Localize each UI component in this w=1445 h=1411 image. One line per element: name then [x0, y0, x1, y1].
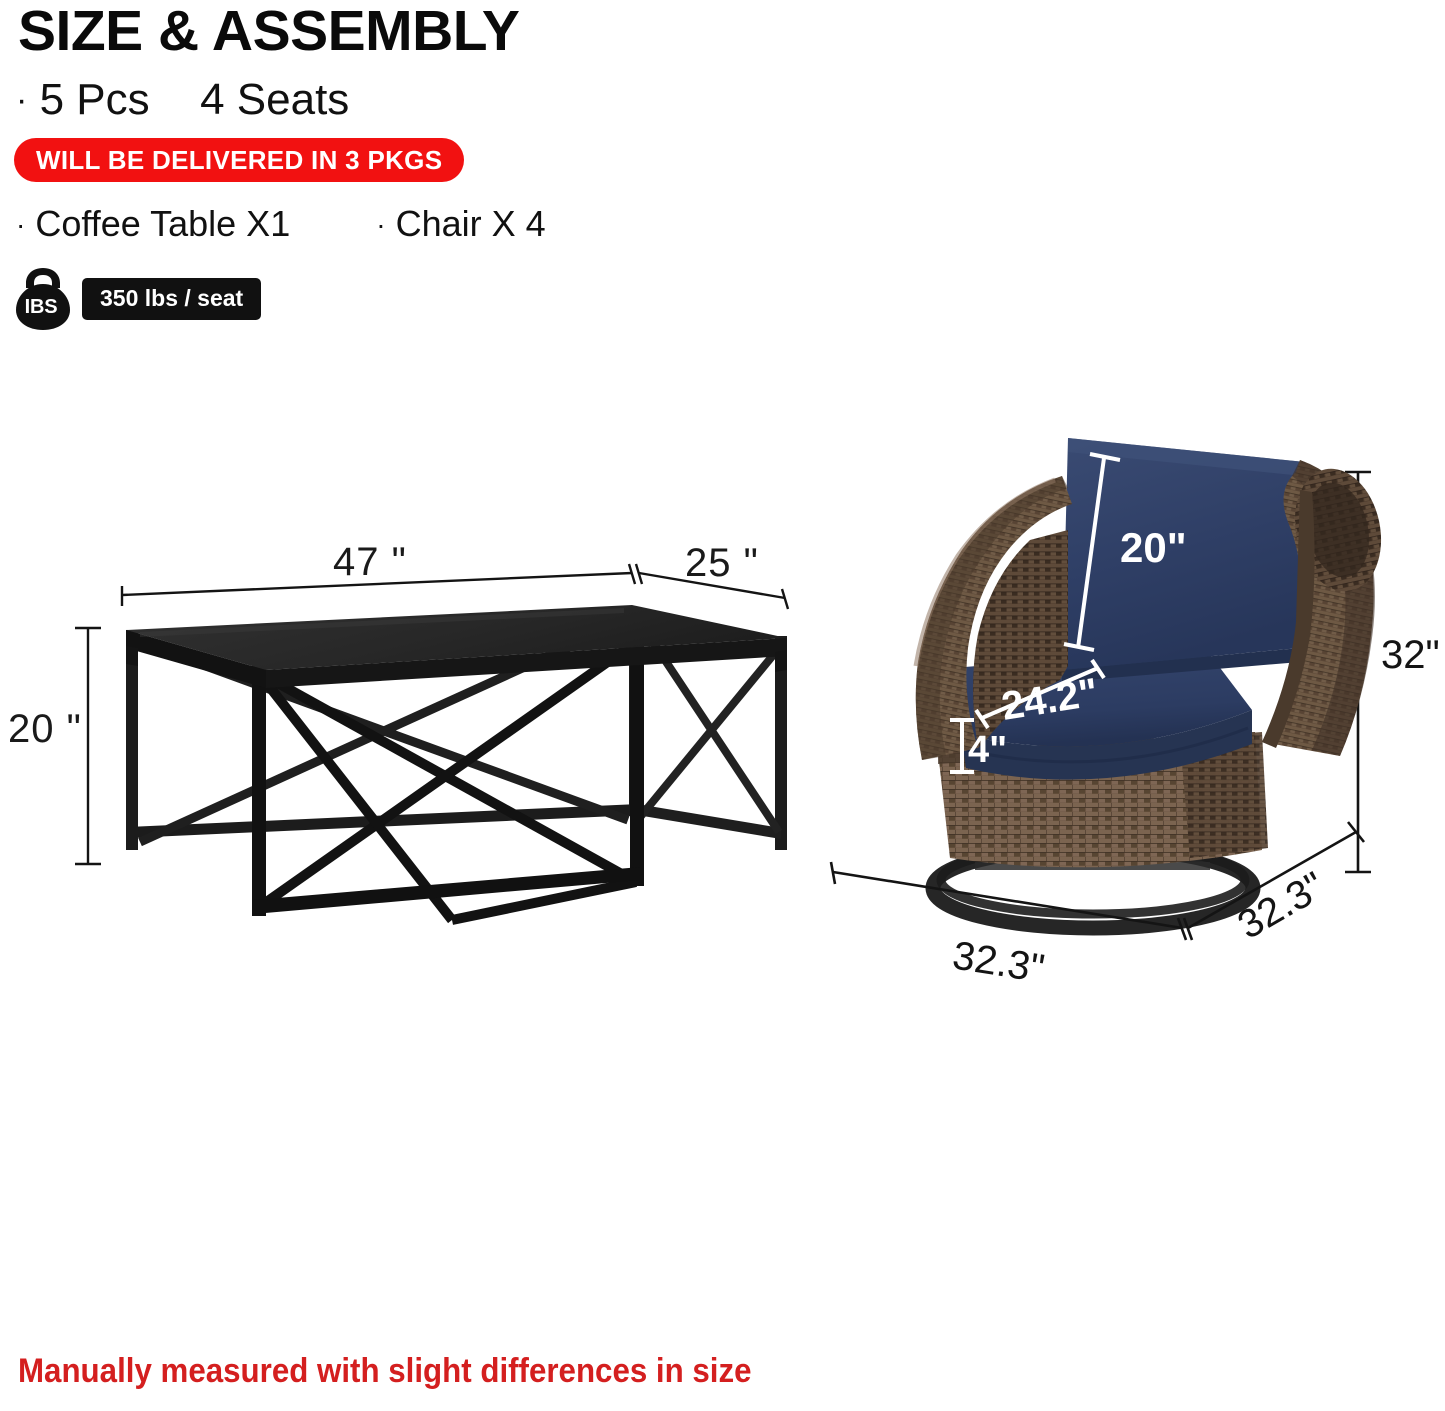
weight-capacity-row: IBS 350 lbs / seat: [12, 266, 261, 332]
table-top: [126, 605, 787, 688]
delivery-badge: WILL BE DELIVERED IN 3 PKGS: [14, 138, 464, 182]
chair-cushion-thickness-label: 4": [968, 729, 1007, 771]
chair-back-cushion-label: 20": [1120, 524, 1187, 571]
items-line: · Coffee Table X1 · Chair X 4: [16, 203, 546, 245]
bullet-icon: ·: [16, 209, 25, 240]
kettlebell-icon: IBS: [12, 266, 74, 332]
coffee-table-illustration: 47 " 25 " 20 ": [8, 540, 788, 920]
item-coffee-table: Coffee Table X1: [35, 203, 290, 244]
bullet-icon: ·: [376, 209, 385, 240]
table-width-label: 47 ": [333, 540, 407, 584]
swivel-chair-illustration: 32": [831, 438, 1440, 991]
seats-count: 4 Seats: [200, 75, 349, 124]
table-height-label: 20 ": [8, 707, 82, 751]
chair-height-label: 32": [1381, 633, 1440, 677]
footnote-text: Manually measured with slight difference…: [18, 1352, 752, 1391]
bullet-icon: ·: [16, 81, 27, 119]
kettlebell-label: IBS: [12, 296, 70, 319]
pieces-seats-line: · 5 Pcs 4 Seats: [16, 76, 349, 124]
product-diagram-stage: 47 " 25 " 20 ": [0, 380, 1445, 1080]
pieces-count: 5 Pcs: [40, 75, 150, 124]
chair-width-label: 32.3": [950, 933, 1048, 991]
page-title: SIZE & ASSEMBLY: [18, 2, 519, 62]
infographic-page: SIZE & ASSEMBLY · 5 Pcs 4 Seats WILL BE …: [0, 0, 1445, 1411]
table-depth-label: 25 ": [685, 541, 759, 585]
weight-capacity-chip: 350 lbs / seat: [82, 278, 261, 320]
item-chair: Chair X 4: [396, 203, 546, 244]
